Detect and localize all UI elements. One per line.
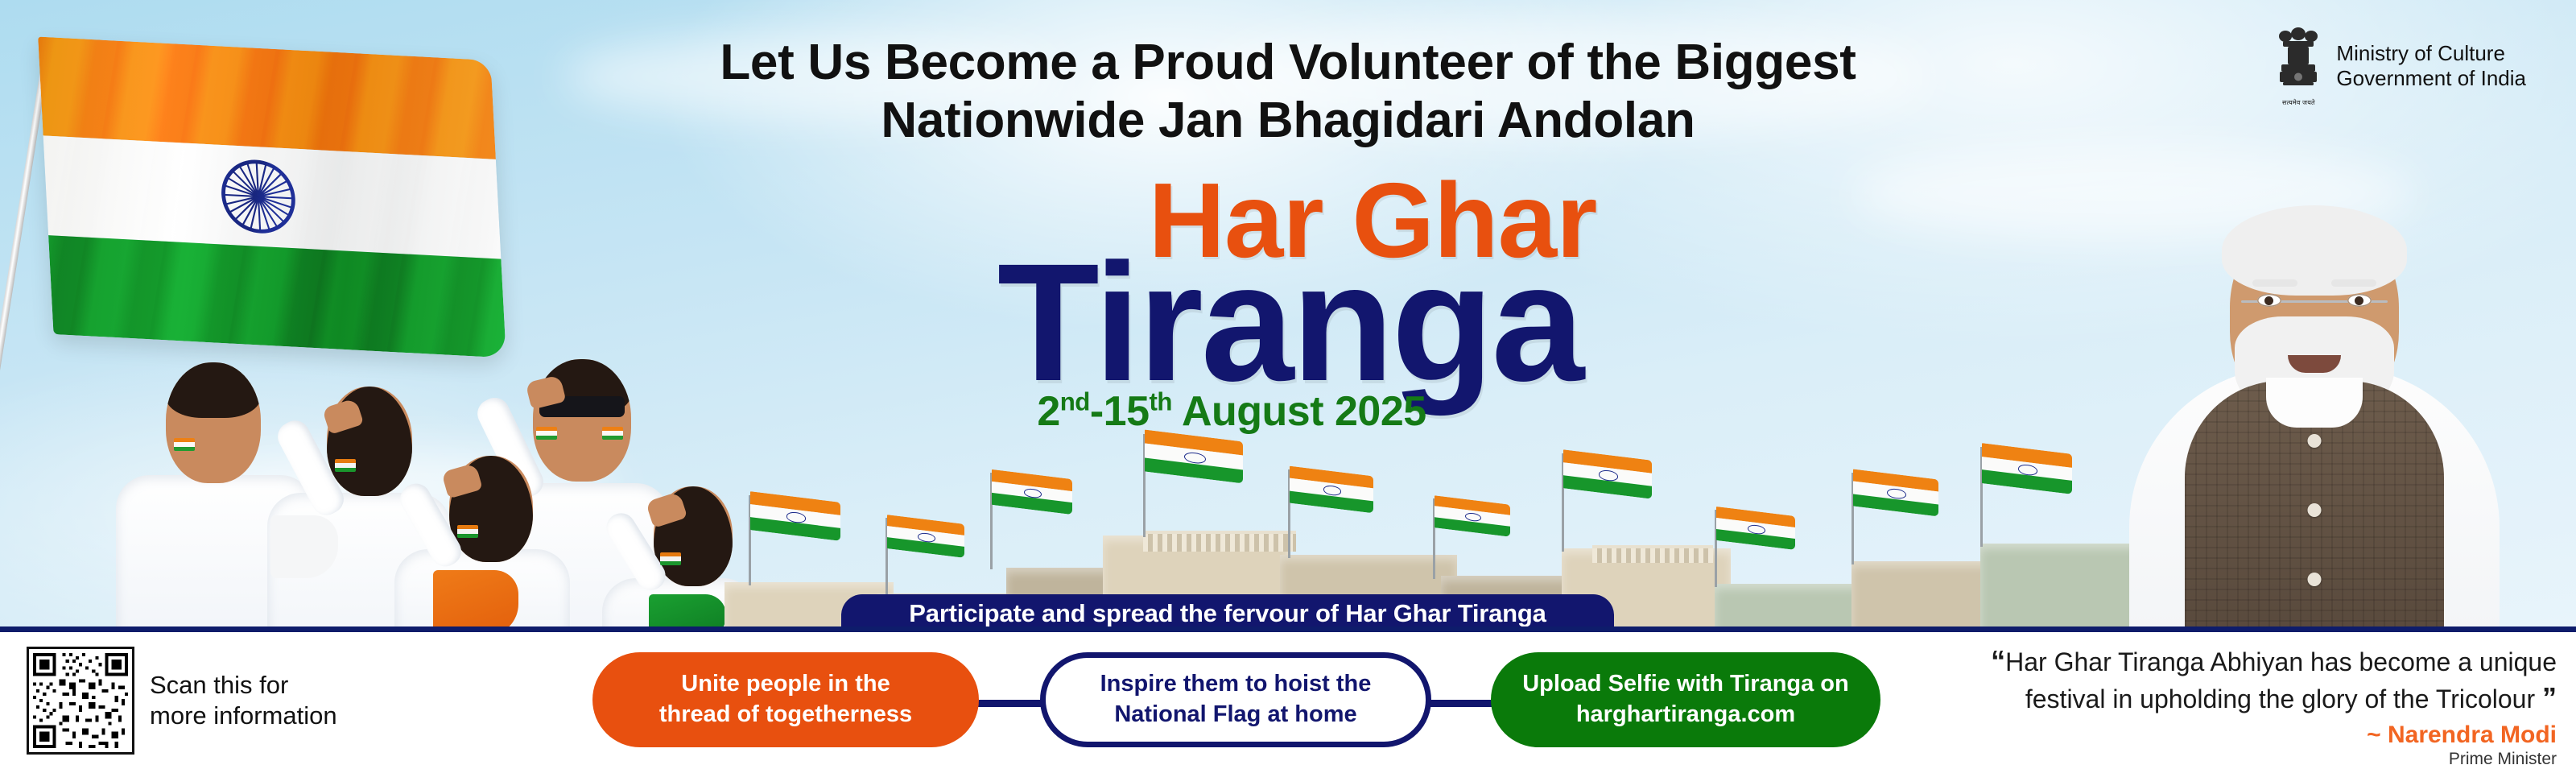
headline-line-2: Nationwide Jan Bhagidari Andolan	[684, 92, 1892, 150]
quote-line-1: Har Ghar Tiranga Abhiyan has become a un…	[2005, 647, 2557, 676]
step-connector	[1423, 700, 1501, 707]
step-connector	[971, 700, 1048, 707]
pm-hair	[2222, 205, 2407, 296]
step-3-line-1: Upload Selfie with Tiranga on	[1522, 671, 1849, 697]
sky-photo-band: Let Us Become a Proud Volunteer of the B…	[0, 0, 2576, 632]
participate-text: Participate and spread the fervour of Ha…	[909, 599, 1546, 628]
ministry-of-culture-logo: सत्यमेव जयते Ministry of Culture Governm…	[2273, 24, 2526, 107]
action-steps: Unite people in the thread of togetherne…	[592, 652, 1880, 749]
pm-quote-block: “Har Ghar Tiranga Abhiyan has become a u…	[1880, 643, 2557, 765]
headline-line-1: Let Us Become a Proud Volunteer of the B…	[684, 34, 1892, 92]
government-name: Government of India	[2336, 66, 2526, 91]
step-1-line-2: thread of togetherness	[659, 701, 912, 727]
headline: Let Us Become a Proud Volunteer of the B…	[684, 34, 1892, 150]
volunteer-person	[386, 435, 572, 632]
step-2-line-2: National Flag at home	[1114, 701, 1356, 727]
step-inspire-hoist[interactable]: Inspire them to hoist the National Flag …	[1040, 652, 1431, 747]
green-scarf	[649, 594, 726, 632]
step-unite-people[interactable]: Unite people in the thread of togetherne…	[592, 652, 979, 747]
qr-code[interactable]	[29, 649, 132, 752]
qr-label-line-1: Scan this for	[150, 670, 337, 701]
orange-scarf	[433, 570, 518, 632]
pm-vest	[2185, 381, 2444, 632]
step-3-line-2: harghartiranga.com	[1576, 701, 1795, 727]
campaign-title-lockup: Har Ghar Tiranga 2nd-15th August 2025	[873, 167, 1727, 436]
quote-line-2: festival in upholding the glory of the T…	[2025, 684, 2535, 713]
emblem-motto: सत्यमेव जयते	[2273, 98, 2323, 107]
title-tiranga: Tiranga	[873, 246, 1706, 400]
quote-open-mark: “	[1991, 644, 2005, 677]
flag-fabric-texture	[38, 37, 506, 358]
ministry-name: Ministry of Culture	[2336, 41, 2526, 66]
participate-banner-pill: Participate and spread the fervour of Ha…	[841, 594, 1614, 632]
flag-cloth	[38, 37, 506, 358]
ashoka-emblem-icon	[2273, 24, 2323, 93]
step-1-line-1: Unite people in the	[681, 671, 890, 697]
har-ghar-tiranga-banner: Let Us Become a Proud Volunteer of the B…	[0, 0, 2576, 765]
saluting-volunteers-group	[121, 346, 757, 632]
indian-flag-illustration	[8, 11, 507, 398]
bottom-action-strip: Scan this for more information Unite peo…	[0, 638, 2576, 765]
qr-label: Scan this for more information	[150, 670, 337, 731]
quote-author: ~ Narendra Modi	[1880, 722, 2557, 749]
qr-label-line-2: more information	[150, 701, 337, 731]
quote-author-role: Prime Minister	[1880, 750, 2557, 765]
qr-group: Scan this for more information	[29, 649, 337, 752]
quote-close-mark: ”	[2542, 681, 2557, 714]
prime-minister-photo	[2125, 133, 2504, 632]
step-upload-selfie[interactable]: Upload Selfie with Tiranga on harghartir…	[1491, 652, 1880, 747]
step-2-line-1: Inspire them to hoist the	[1100, 671, 1372, 697]
